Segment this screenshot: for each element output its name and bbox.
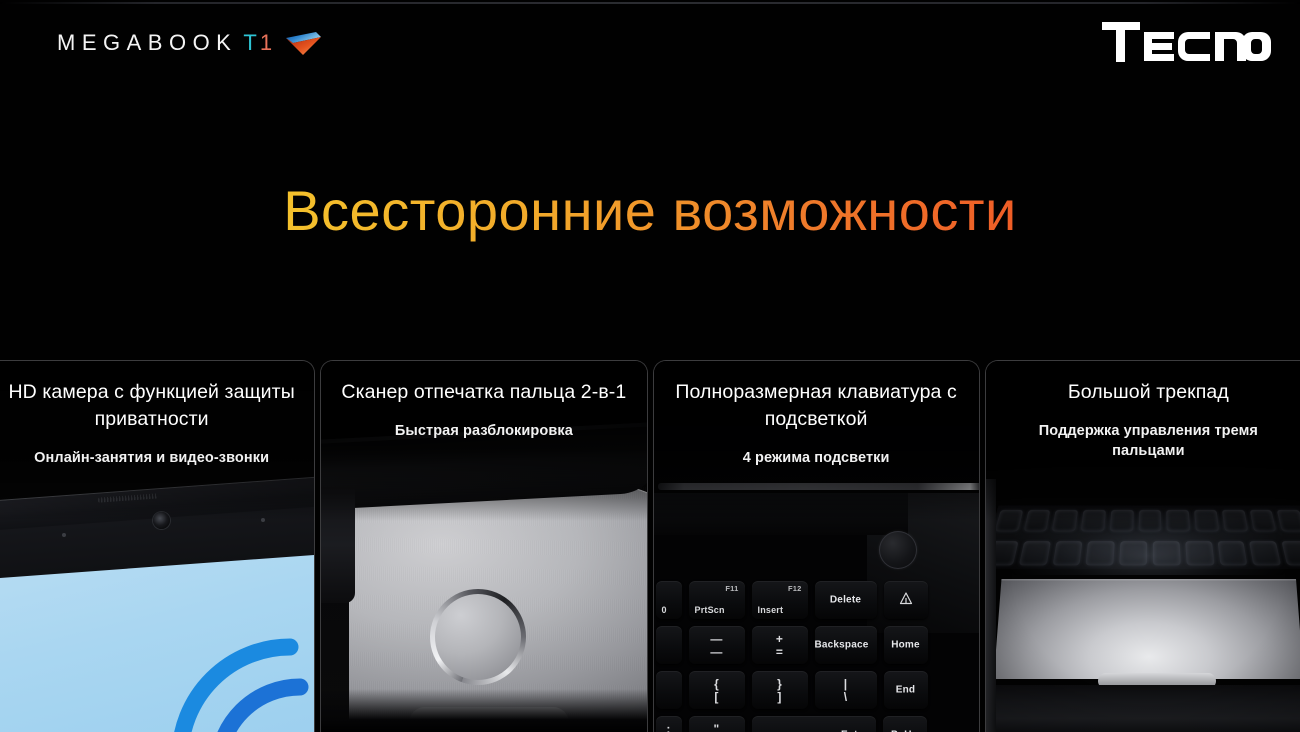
- key-home: Home: [884, 626, 928, 664]
- key-enter: Enter: [752, 716, 876, 732]
- fingerprint-power-button-image: [321, 361, 646, 732]
- key-colon: : ;: [656, 716, 682, 732]
- key-bracket-close: } ]: [752, 671, 808, 709]
- gem-icon: [283, 28, 323, 58]
- laptop-screen-webcam-image: [0, 361, 314, 732]
- key-0: 0: [656, 581, 682, 619]
- full-size-keyboard-image: 0 F11 PrtScn F12 Insert Delete: [654, 361, 979, 732]
- large-trackpad-image: [986, 361, 1300, 732]
- key-backslash: | \: [815, 671, 877, 709]
- keyboard-keys: 0 F11 PrtScn F12 Insert Delete: [656, 581, 979, 732]
- key-end: End: [884, 671, 928, 709]
- keyboard-row: : ; " ' Enter PgUp: [656, 716, 979, 732]
- keyboard-row: { [ } ] | \ End: [656, 671, 979, 709]
- tecno-logo: [1102, 20, 1272, 64]
- microphone-dot-left: [62, 533, 66, 537]
- key-f11-prtscn: F11 PrtScn: [689, 581, 745, 619]
- power-glyph-icon: [898, 591, 913, 609]
- key-backspace: Backspace: [815, 626, 877, 664]
- megabook-wordmark: MEGABOOK: [57, 26, 237, 60]
- key-blank-3: [656, 671, 682, 709]
- key-delete: Delete: [815, 581, 877, 619]
- slide-header: MEGABOOK T 1: [0, 0, 1300, 90]
- fingerprint-button-icon: [430, 589, 526, 685]
- model-letter-t: T: [243, 26, 259, 60]
- key-minus-underscore: — —: [689, 626, 745, 664]
- slide-root: MEGABOOK T 1: [0, 0, 1300, 732]
- feature-card-hd-camera[interactable]: HD камера с функцией защиты приватности …: [0, 360, 315, 732]
- microphone-dot-right: [261, 518, 265, 522]
- key-quote: " ': [689, 716, 745, 732]
- key-minus-a: [656, 626, 682, 664]
- keyboard-row: 0 F11 PrtScn F12 Insert Delete: [656, 581, 979, 619]
- feature-card-fingerprint-scanner[interactable]: Сканер отпечатка пальца 2-в-1 Быстрая ра…: [320, 360, 647, 732]
- keyboard-row: — — + = Backspace Home: [656, 626, 979, 664]
- key-power: [884, 581, 928, 619]
- feature-card-row: HD камера с функцией защиты приватности …: [0, 360, 1300, 732]
- key-f12-insert: F12 Insert: [752, 581, 808, 619]
- page-title: Всесторонние возможности: [0, 175, 1300, 247]
- megabook-product-logo: MEGABOOK T 1: [57, 26, 323, 60]
- power-button-icon: [879, 531, 917, 569]
- feature-card-large-trackpad[interactable]: Большой трекпад Поддержка управления тре…: [985, 360, 1300, 732]
- key-pgup: PgUp: [883, 716, 927, 732]
- windows-logo-icon: [160, 597, 314, 732]
- feature-card-backlit-keyboard[interactable]: 0 F11 PrtScn F12 Insert Delete: [653, 360, 980, 732]
- model-number-1: 1: [260, 26, 273, 60]
- key-bracket-open: { [: [689, 671, 745, 709]
- key-plus-equals: + =: [752, 626, 808, 664]
